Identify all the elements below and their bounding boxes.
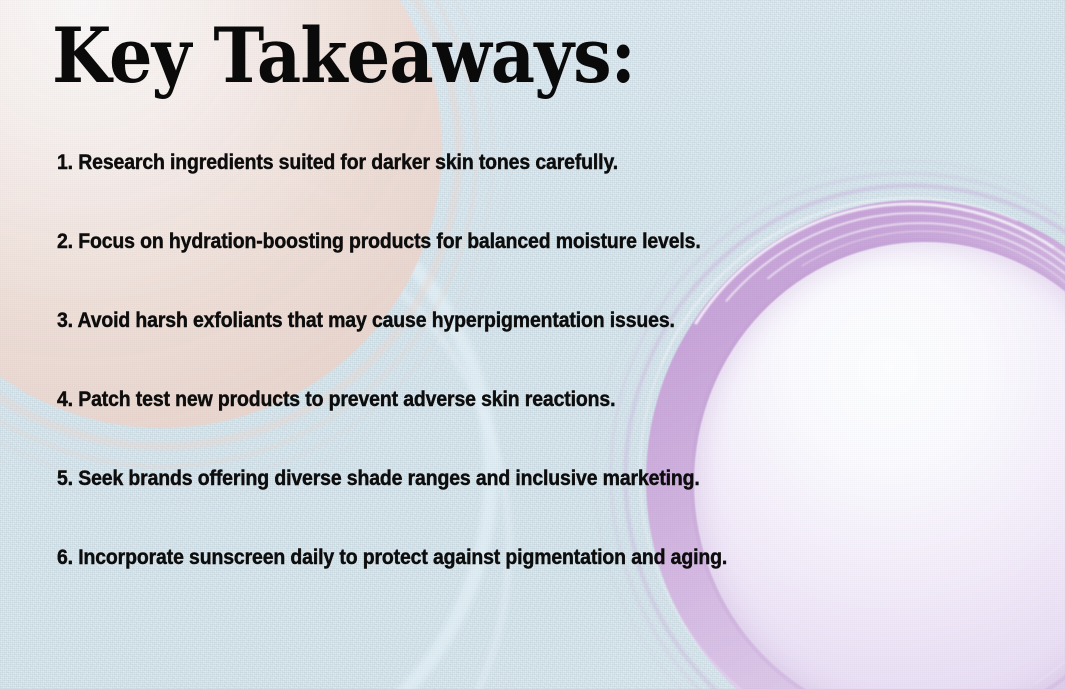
takeaway-text-4: 4. Patch test new products to prevent ad… xyxy=(57,389,615,411)
key-takeaways-graphic: Key Takeaways: 1. Research ingredients s… xyxy=(0,0,1065,689)
takeaway-text-2: 2. Focus on hydration-boosting products … xyxy=(57,231,701,253)
takeaway-text-6: 6. Incorporate sunscreen daily to protec… xyxy=(57,547,727,569)
takeaway-text-3: 3. Avoid harsh exfoliants that may cause… xyxy=(57,310,675,332)
list-item: 4. Patch test new products to prevent ad… xyxy=(57,389,1025,468)
list-item: 6. Incorporate sunscreen daily to protec… xyxy=(57,547,1025,626)
list-item: 2. Focus on hydration-boosting products … xyxy=(57,231,1025,310)
takeaway-text-1: 1. Research ingredients suited for darke… xyxy=(57,152,618,174)
list-item: 3. Avoid harsh exfoliants that may cause… xyxy=(57,310,1025,389)
page-title: Key Takeaways: xyxy=(52,16,635,95)
list-item: 5. Seek brands offering diverse shade ra… xyxy=(57,468,1025,547)
takeaways-list: 1. Research ingredients suited for darke… xyxy=(57,152,1025,626)
list-item: 1. Research ingredients suited for darke… xyxy=(57,152,1025,231)
content-layer: Key Takeaways: 1. Research ingredients s… xyxy=(0,0,1065,689)
takeaway-text-5: 5. Seek brands offering diverse shade ra… xyxy=(57,468,700,490)
